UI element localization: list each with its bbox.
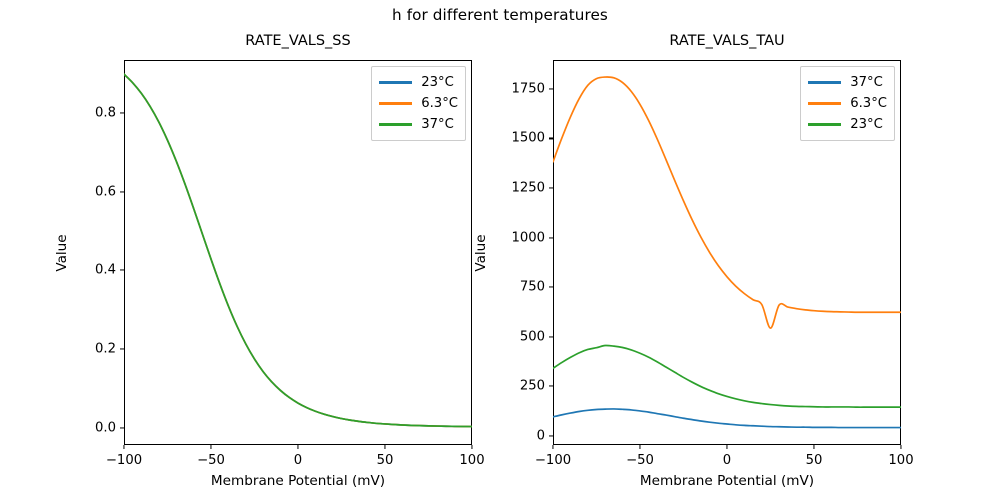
y-tick-mark (120, 270, 124, 271)
y-tick-mark (549, 435, 553, 436)
x-tick-mark (813, 445, 814, 449)
axes-rate-vals-ss: RATE_VALS_SS 0.00.20.40.60.8−100−5005010… (124, 60, 472, 445)
legend-color-swatch (379, 102, 412, 104)
y-tick-label: 0.4 (95, 263, 116, 278)
y-tick-label: 1500 (511, 131, 545, 146)
figure-suptitle: h for different temperatures (0, 6, 1000, 24)
legend-item[interactable]: 23°C (379, 72, 458, 93)
legend-color-swatch (808, 81, 841, 83)
y-tick-label: 750 (520, 280, 545, 295)
x-tick-label: 100 (888, 453, 913, 468)
y-tick-mark (120, 112, 124, 113)
y-tick-label: 0.8 (95, 105, 116, 120)
x-tick-mark (297, 445, 298, 449)
x-tick-label: −50 (197, 453, 225, 468)
y-tick-label: 1000 (511, 230, 545, 245)
x-tick-mark (900, 445, 901, 449)
x-tick-label: 0 (723, 453, 731, 468)
y-tick-mark (549, 386, 553, 387)
legend-label: 37°C (850, 75, 883, 90)
y-tick-label: 0.6 (95, 184, 116, 199)
axes-rate-vals-tau: RATE_VALS_TAU 02505007501000125015001750… (553, 60, 901, 445)
legend-item[interactable]: 23°C (808, 114, 887, 135)
x-tick-label: −100 (535, 453, 571, 468)
y-tick-mark (549, 336, 553, 337)
x-tick-mark (552, 445, 553, 449)
x-tick-label: 50 (806, 453, 823, 468)
x-tick-mark (384, 445, 385, 449)
x-tick-label: 50 (377, 453, 394, 468)
matplotlib-figure: h for different temperatures RATE_VALS_S… (0, 0, 1000, 500)
legend-label: 6.3°C (850, 96, 887, 111)
legend[interactable]: 37°C6.3°C23°C (800, 66, 895, 141)
legend-label: 23°C (850, 117, 883, 132)
y-tick-mark (120, 191, 124, 192)
y-tick-mark (549, 287, 553, 288)
legend-item[interactable]: 37°C (808, 72, 887, 93)
x-axis-label: Membrane Potential (mV) (124, 473, 472, 489)
line-series (553, 409, 901, 428)
legend-label: 6.3°C (421, 96, 458, 111)
y-tick-label: 0.2 (95, 341, 116, 356)
y-tick-mark (549, 187, 553, 188)
legend-color-swatch (808, 102, 841, 104)
y-tick-label: 500 (520, 329, 545, 344)
axes-title: RATE_VALS_SS (124, 33, 472, 49)
y-axis-label: Value (473, 234, 489, 271)
legend-item[interactable]: 6.3°C (379, 93, 458, 114)
legend-item[interactable]: 37°C (379, 114, 458, 135)
y-axis-label: Value (54, 234, 70, 271)
x-tick-label: 100 (459, 453, 484, 468)
x-tick-mark (639, 445, 640, 449)
legend-color-swatch (379, 81, 412, 83)
x-tick-mark (123, 445, 124, 449)
y-tick-mark (120, 427, 124, 428)
legend[interactable]: 23°C6.3°C37°C (371, 66, 466, 141)
legend-label: 23°C (421, 75, 454, 90)
x-axis-label: Membrane Potential (mV) (553, 473, 901, 489)
y-tick-label: 0 (537, 428, 545, 443)
y-tick-mark (549, 88, 553, 89)
x-tick-mark (471, 445, 472, 449)
x-tick-mark (210, 445, 211, 449)
legend-item[interactable]: 6.3°C (808, 93, 887, 114)
y-tick-label: 0.0 (95, 420, 116, 435)
x-tick-label: 0 (294, 453, 302, 468)
legend-color-swatch (808, 123, 841, 125)
axes-title: RATE_VALS_TAU (553, 33, 901, 49)
y-tick-mark (120, 348, 124, 349)
y-tick-label: 250 (520, 379, 545, 394)
legend-color-swatch (379, 123, 412, 125)
y-tick-label: 1750 (511, 81, 545, 96)
y-tick-mark (549, 138, 553, 139)
x-tick-mark (726, 445, 727, 449)
line-series (553, 345, 901, 407)
x-tick-label: −100 (106, 453, 142, 468)
y-tick-mark (549, 237, 553, 238)
y-tick-label: 1250 (511, 181, 545, 196)
legend-label: 37°C (421, 117, 454, 132)
x-tick-label: −50 (626, 453, 654, 468)
